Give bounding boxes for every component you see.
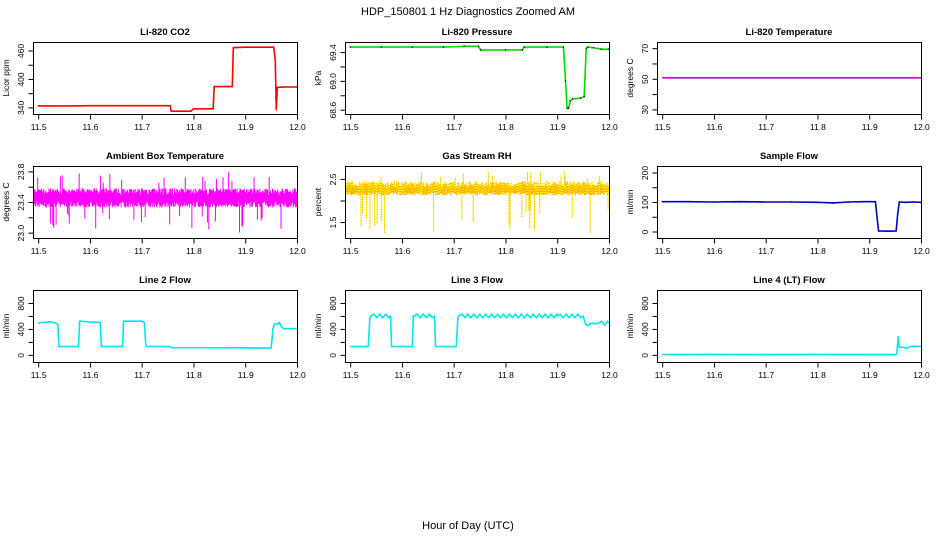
x-tick-label: 12.0 — [913, 370, 930, 380]
y-tick-label: 23.4 — [16, 194, 26, 211]
x-tick-label: 11.8 — [810, 370, 826, 380]
y-tick-label: 800 — [640, 296, 650, 310]
y-tick-label: 0 — [640, 229, 650, 234]
y-tick-label: 23.8 — [16, 163, 26, 180]
diagnostics-figure: HDP_150801 1 Hz Diagnostics Zoomed AM Li… — [0, 0, 936, 540]
x-tick-label: 11.5 — [31, 246, 47, 256]
y-tick-label: 460 — [16, 44, 26, 58]
y-axis-label: ml/min — [1, 313, 11, 338]
x-tick-label: 12.0 — [289, 122, 306, 132]
x-tick-label: 11.9 — [862, 246, 878, 256]
y-tick-label: 0 — [16, 353, 26, 358]
x-tick-label: 11.6 — [82, 122, 98, 132]
y-tick-label: 23.0 — [16, 225, 26, 242]
y-axis-label: degrees C — [1, 182, 11, 221]
x-tick-label: 11.5 — [31, 122, 47, 132]
figure-suptitle: HDP_150801 1 Hz Diagnostics Zoomed AM — [361, 6, 575, 18]
x-tick-label: 11.6 — [394, 370, 410, 380]
y-tick-label: 0 — [328, 353, 338, 358]
panel-title: Line 4 (LT) Flow — [753, 275, 825, 286]
y-tick-label: 400 — [16, 72, 26, 86]
x-tick-label: 11.5 — [343, 246, 359, 256]
x-tick-label: 11.8 — [810, 246, 826, 256]
x-tick-label: 11.5 — [31, 370, 47, 380]
y-tick-label: 69.0 — [328, 73, 338, 90]
y-axis-label: percent — [313, 187, 323, 216]
x-tick-label: 12.0 — [913, 122, 930, 132]
x-tick-label: 11.7 — [758, 246, 774, 256]
x-tick-label: 11.5 — [343, 122, 359, 132]
y-axis-label: ml/min — [625, 313, 635, 338]
x-tick-label: 11.8 — [498, 370, 514, 380]
y-tick-label: 400 — [328, 322, 338, 336]
y-axis-label: ml/min — [625, 189, 635, 214]
x-tick-label: 11.7 — [134, 122, 150, 132]
x-tick-label: 11.9 — [862, 370, 878, 380]
x-tick-label: 11.5 — [343, 370, 359, 380]
x-tick-label: 11.5 — [655, 246, 671, 256]
panel-title: Line 2 Flow — [139, 275, 191, 286]
x-tick-label: 11.8 — [186, 370, 202, 380]
x-tick-label: 12.0 — [289, 246, 306, 256]
x-tick-label: 11.7 — [134, 246, 150, 256]
y-tick-label: 400 — [640, 322, 650, 336]
y-tick-label: 200 — [640, 166, 650, 180]
panel-title: Li-820 Temperature — [746, 27, 833, 38]
x-tick-label: 11.9 — [550, 370, 566, 380]
x-tick-label: 11.7 — [758, 122, 774, 132]
y-tick-label: 1.5 — [328, 216, 338, 228]
y-axis-label: Licor ppm — [1, 59, 11, 96]
x-tick-label: 11.5 — [655, 370, 671, 380]
x-tick-label: 11.6 — [706, 370, 722, 380]
x-tick-label: 11.6 — [394, 122, 410, 132]
y-tick-label: 70 — [640, 44, 650, 54]
x-tick-label: 11.6 — [706, 246, 722, 256]
y-tick-label: 100 — [640, 195, 650, 209]
x-tick-label: 11.9 — [238, 370, 254, 380]
panel-title: Sample Flow — [760, 151, 819, 162]
x-tick-label: 11.6 — [82, 246, 98, 256]
y-axis-label: ml/min — [313, 313, 323, 338]
x-tick-label: 11.8 — [186, 246, 202, 256]
x-tick-label: 11.9 — [238, 246, 254, 256]
y-tick-label: 69.4 — [328, 44, 338, 61]
panel-title: Line 3 Flow — [451, 275, 503, 286]
y-tick-label: 30 — [640, 105, 650, 115]
y-tick-label: 800 — [328, 296, 338, 310]
figure-xaxis-label: Hour of Day (UTC) — [422, 520, 514, 532]
x-tick-label: 11.8 — [186, 122, 202, 132]
x-tick-label: 11.7 — [758, 370, 774, 380]
y-tick-label: 2.5 — [328, 173, 338, 185]
x-tick-label: 11.8 — [498, 122, 514, 132]
x-tick-label: 11.6 — [394, 246, 410, 256]
y-tick-label: 800 — [16, 296, 26, 310]
y-tick-label: 50 — [640, 74, 650, 84]
panel-title: Gas Stream RH — [442, 151, 511, 162]
x-tick-label: 11.7 — [446, 246, 462, 256]
x-tick-label: 11.7 — [446, 122, 462, 132]
x-tick-label: 12.0 — [289, 370, 306, 380]
x-tick-label: 11.9 — [550, 122, 566, 132]
x-tick-label: 12.0 — [601, 122, 618, 132]
x-tick-label: 11.8 — [498, 246, 514, 256]
x-tick-label: 12.0 — [601, 370, 618, 380]
panel-title: Ambient Box Temperature — [106, 151, 224, 162]
x-tick-label: 12.0 — [601, 246, 618, 256]
y-tick-label: 400 — [16, 322, 26, 336]
x-tick-label: 11.8 — [810, 122, 826, 132]
y-axis-label: degrees C — [625, 58, 635, 97]
x-tick-label: 11.9 — [550, 246, 566, 256]
x-tick-label: 11.7 — [134, 370, 150, 380]
x-tick-label: 11.5 — [655, 122, 671, 132]
panel-title: Li-820 Pressure — [442, 27, 513, 38]
y-axis-label: kPa — [313, 70, 323, 85]
x-tick-label: 12.0 — [913, 246, 930, 256]
y-tick-label: 0 — [640, 353, 650, 358]
x-tick-label: 11.9 — [862, 122, 878, 132]
x-tick-label: 11.9 — [238, 122, 254, 132]
panel-title: Li-820 CO2 — [140, 27, 190, 38]
x-tick-label: 11.7 — [446, 370, 462, 380]
y-tick-label: 68.6 — [328, 102, 338, 119]
x-tick-label: 11.6 — [706, 122, 722, 132]
y-tick-label: 340 — [16, 101, 26, 115]
x-tick-label: 11.6 — [82, 370, 98, 380]
figure-background — [0, 0, 936, 540]
